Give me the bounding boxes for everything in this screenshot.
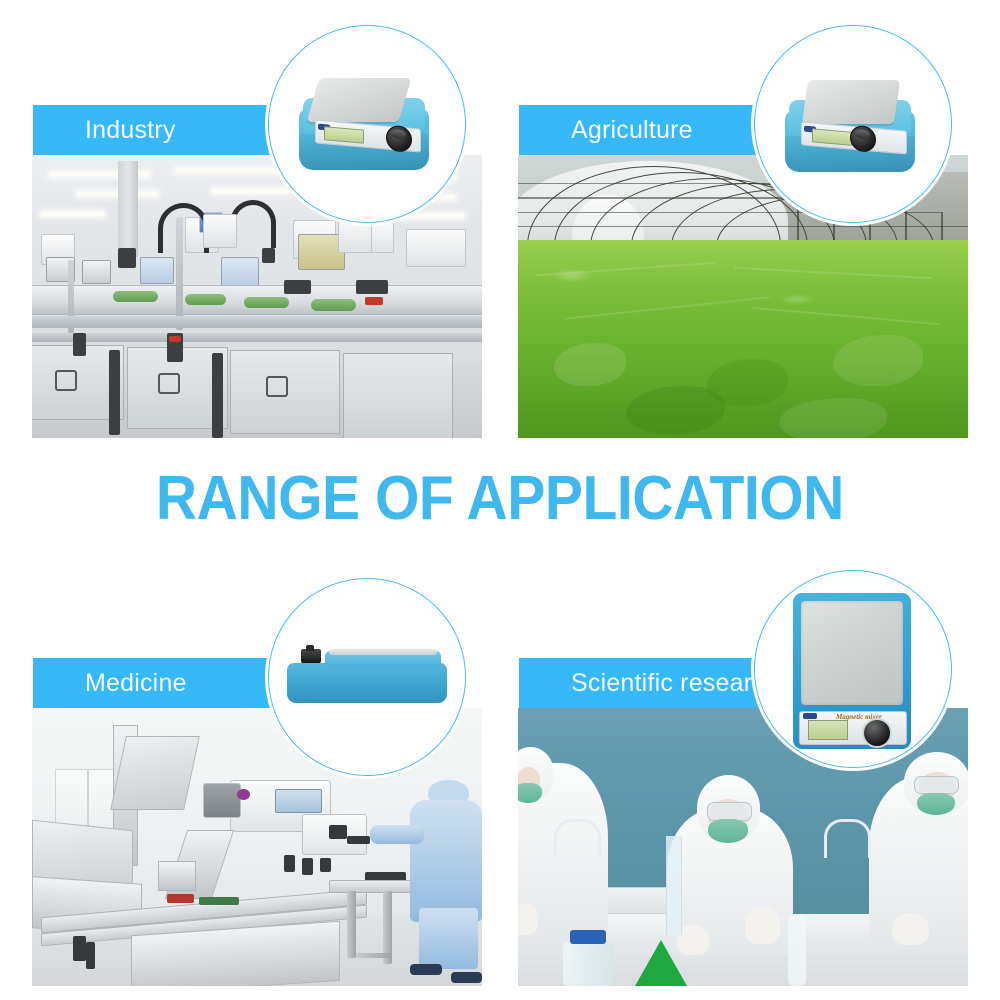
panel-label-medicine: Medicine	[33, 671, 187, 696]
magnetic-mixer-top-down: Magnetic mixer	[793, 593, 911, 749]
panel-medicine: Medicine	[32, 658, 482, 986]
panel-label-industry: Industry	[33, 118, 176, 143]
panel-industry: Industry	[32, 105, 482, 438]
product-inset-agriculture	[754, 25, 952, 223]
panel-label-scientific-research: Scientific research	[519, 671, 779, 696]
magnetic-mixer-isometric-front	[779, 70, 929, 190]
panel-scientific-research: Scientific research Magnetic mixer	[518, 658, 968, 986]
page-title-text: RANGE OF APPLICATION	[156, 468, 844, 530]
product-inset-industry	[268, 25, 466, 223]
product-inset-medicine	[268, 578, 466, 776]
magnetic-mixer-isometric-left	[293, 68, 443, 188]
page-title: RANGE OF APPLICATION	[0, 468, 1000, 530]
product-inset-scientific-research: Magnetic mixer	[754, 570, 952, 768]
magnetic-mixer-side-profile	[287, 641, 447, 703]
panel-agriculture: Agriculture	[518, 105, 968, 438]
panel-label-agriculture: Agriculture	[519, 118, 693, 143]
application-range-infographic: Industry	[0, 0, 1000, 1000]
